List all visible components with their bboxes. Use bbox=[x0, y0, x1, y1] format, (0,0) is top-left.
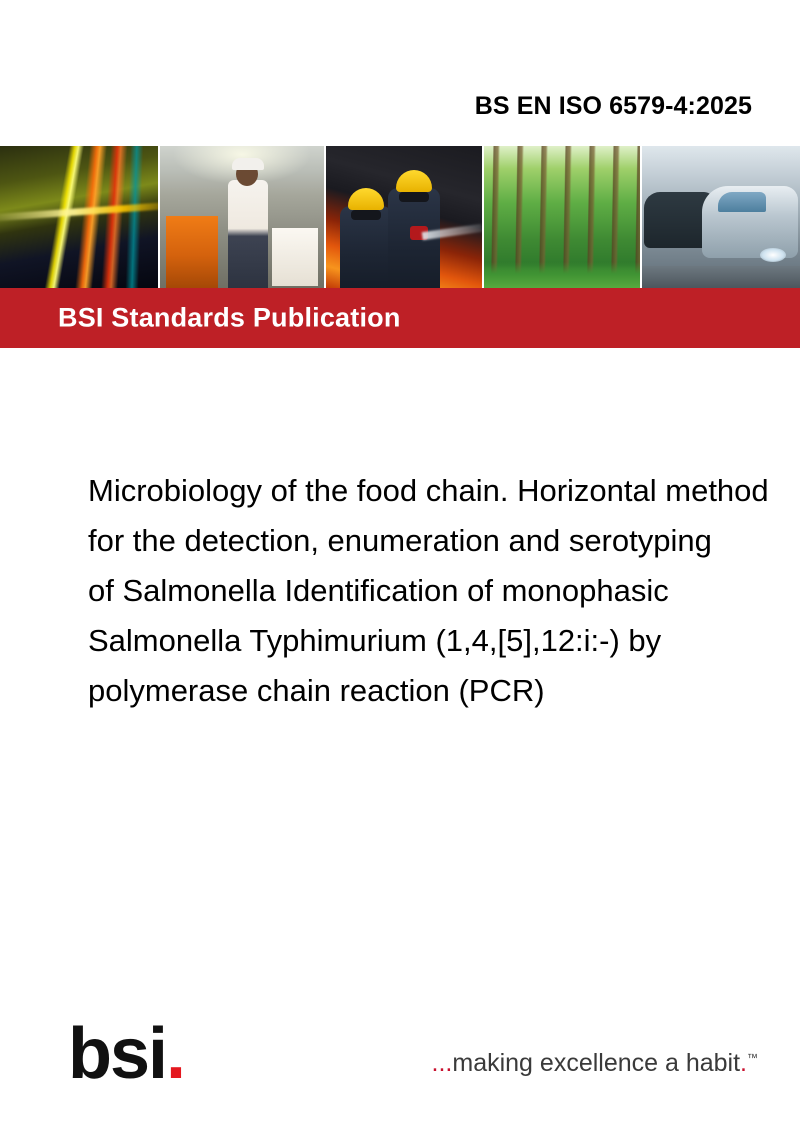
car-headlamp-shape bbox=[760, 248, 786, 262]
bsi-standards-banner-label: BSI Standards Publication bbox=[58, 303, 401, 334]
firefighter-visor-two-shape bbox=[399, 192, 429, 202]
document-title: Microbiology of the food chain. Horizont… bbox=[88, 466, 800, 716]
tagline-text: making excellence a habit bbox=[452, 1049, 740, 1077]
photo-panel-firefighters bbox=[326, 146, 484, 288]
warehouse-worker-body-shape bbox=[228, 180, 268, 288]
firefighter-visor-one-shape bbox=[351, 210, 381, 220]
bsi-logo-dot: . bbox=[166, 1014, 184, 1094]
firefighter-helmet-one-shape bbox=[348, 188, 384, 210]
warehouse-bin-shape bbox=[166, 216, 218, 288]
document-title-line: polymerase chain reaction (PCR) bbox=[88, 666, 800, 716]
document-title-line: for the detection, enumeration and serot… bbox=[88, 516, 800, 566]
photo-panel-car-assembly bbox=[642, 146, 800, 288]
bsi-standards-banner: BSI Standards Publication bbox=[0, 288, 800, 348]
document-title-line: Salmonella Typhimurium (1,4,[5],12:i:-) … bbox=[88, 616, 800, 666]
bsi-tagline: ...making excellence a habit.™ bbox=[432, 1049, 758, 1078]
firefighter-helmet-two-shape bbox=[396, 170, 432, 192]
bsi-logo: bsi. bbox=[68, 1018, 184, 1090]
photo-panel-forest bbox=[484, 146, 641, 288]
factory-floor-shape bbox=[642, 266, 800, 288]
photo-panel-warehouse-worker bbox=[160, 146, 325, 288]
tagline-end-dot: . bbox=[740, 1049, 747, 1077]
document-title-line: of Salmonella Identification of monophas… bbox=[88, 566, 800, 616]
trademark-icon: ™ bbox=[747, 1053, 758, 1065]
warehouse-box-shape bbox=[272, 228, 318, 286]
photo-panel-traffic-light-trails bbox=[0, 146, 160, 288]
car-windshield-shape bbox=[718, 192, 766, 212]
cover-photo-strip bbox=[0, 146, 800, 288]
document-title-line: Microbiology of the food chain. Horizont… bbox=[88, 466, 800, 516]
tagline-leading-ellipsis: ... bbox=[432, 1049, 453, 1077]
bsi-logo-wordmark: bsi bbox=[68, 1014, 166, 1094]
warehouse-worker-cap-shape bbox=[232, 158, 264, 170]
standard-number: BS EN ISO 6579-4:2025 bbox=[475, 92, 752, 121]
